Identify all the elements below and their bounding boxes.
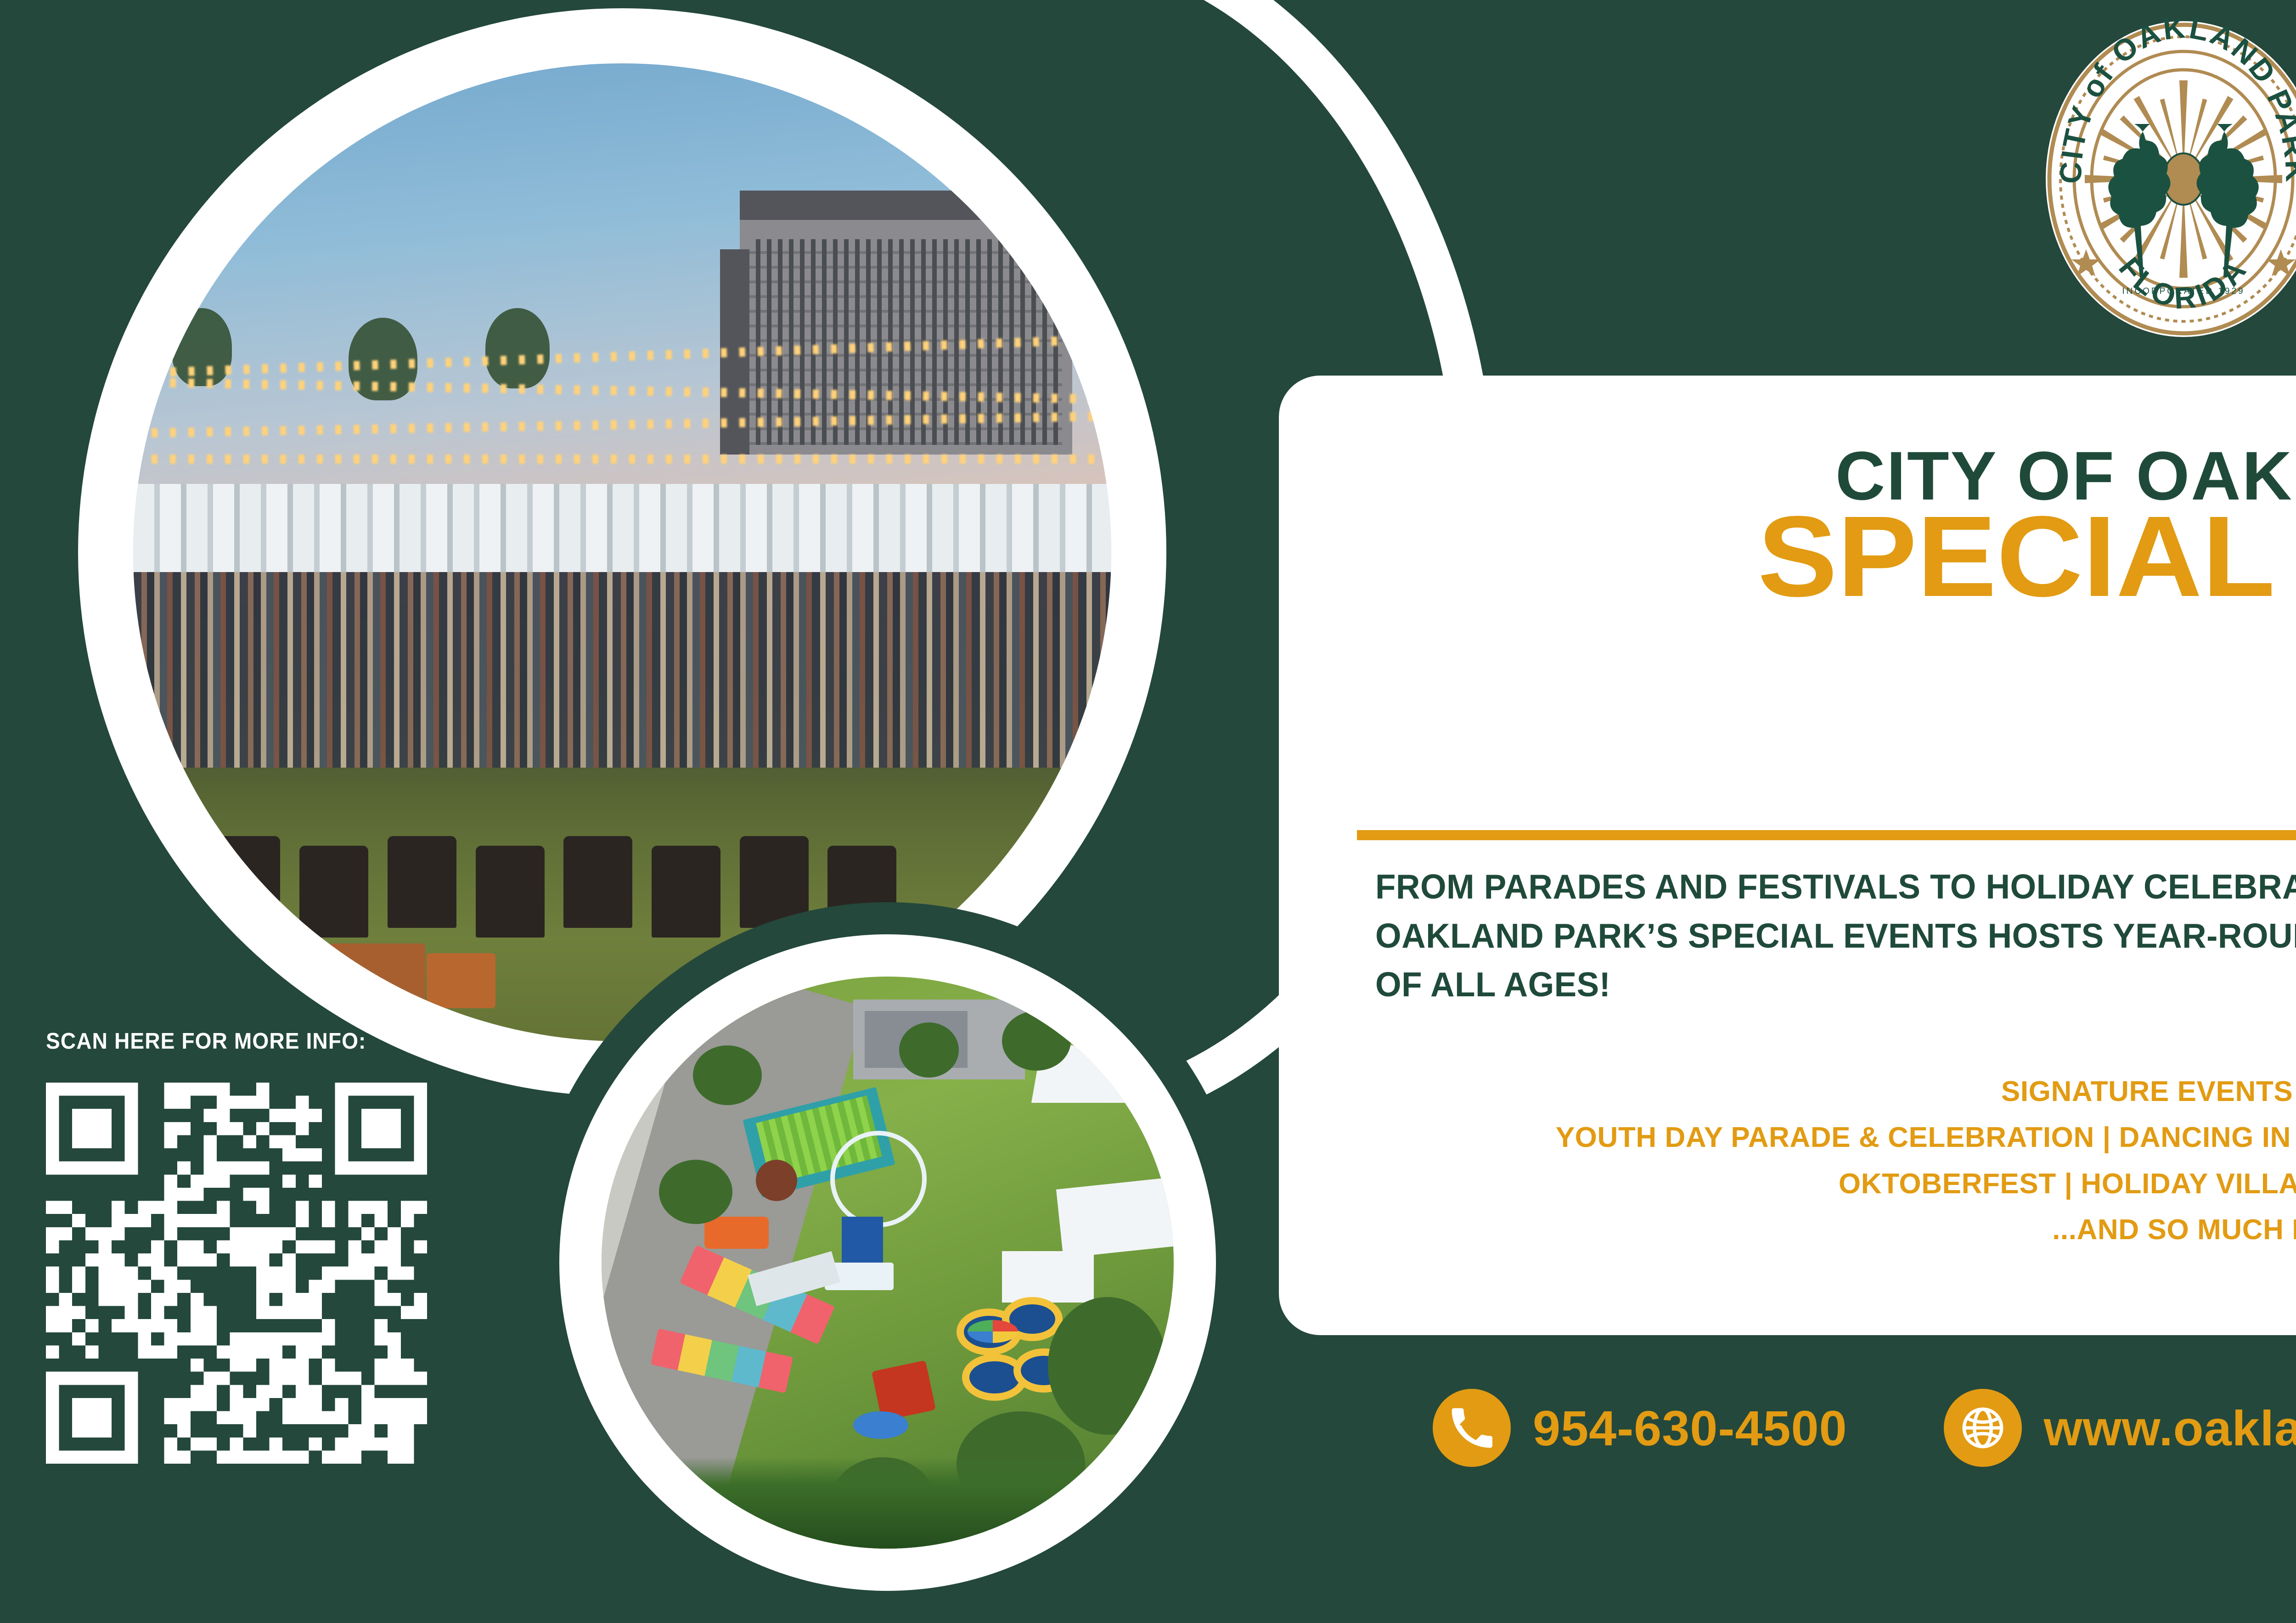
body-line-1: FROM PARADES AND FESTIVALS TO HOLIDAY CE… — [1375, 862, 2296, 911]
city-seal: CITY of OAKLAND PARK FLORIDA INCORPORATE… — [2043, 18, 2296, 340]
phone-number[interactable]: 954-630-4500 — [1533, 1399, 1847, 1457]
body-line-3: OF ALL AGES! — [1375, 960, 2296, 1009]
body-copy: FROM PARADES AND FESTIVALS TO HOLIDAY CE… — [1375, 862, 2296, 1009]
contact-bar: 954-630-4500 www.oaklandparkfl.gov — [1433, 1373, 2296, 1483]
page-subtitle: SPECIAL EVENTS — [1344, 490, 2296, 622]
gold-divider — [1357, 830, 2296, 840]
qr-code[interactable] — [46, 1083, 427, 1464]
seal-incorporated: INCORPORATED 1929 — [2122, 286, 2245, 296]
photo-aerial-carnival — [602, 977, 1174, 1549]
scan-here-label: SCAN HERE FOR MORE INFO: — [46, 1028, 434, 1054]
info-panel: CITY OF OAKLAND PARK SPECIAL EVENTS FROM… — [1279, 376, 2296, 1335]
events-heading: SIGNATURE EVENTS INCLUDE: — [1279, 1069, 2296, 1115]
events-line-1: YOUTH DAY PARADE & CELEBRATION | DANCING… — [1279, 1115, 2296, 1161]
website-contact[interactable]: www.oaklandparkfl.gov — [1944, 1389, 2296, 1467]
phone-contact[interactable]: 954-630-4500 — [1433, 1389, 1847, 1467]
city-seal-icon: CITY of OAKLAND PARK FLORIDA INCORPORATE… — [2043, 18, 2296, 340]
photo-festival-crowd — [133, 63, 1111, 1041]
globe-icon — [1944, 1389, 2022, 1467]
events-line-2: OKTOBERFEST | HOLIDAY VILLAGE & TREE LIG… — [1279, 1161, 2296, 1207]
body-line-2: OAKLAND PARK’S SPECIAL EVENTS HOSTS YEAR… — [1375, 911, 2296, 960]
phone-icon — [1433, 1389, 1511, 1467]
website-url[interactable]: www.oaklandparkfl.gov — [2044, 1399, 2296, 1457]
signature-events-block: SIGNATURE EVENTS INCLUDE: YOUTH DAY PARA… — [1279, 1069, 2296, 1253]
qr-block: SCAN HERE FOR MORE INFO: — [46, 1028, 459, 1466]
events-line-3: ...AND SO MUCH MORE! — [1279, 1207, 2296, 1253]
